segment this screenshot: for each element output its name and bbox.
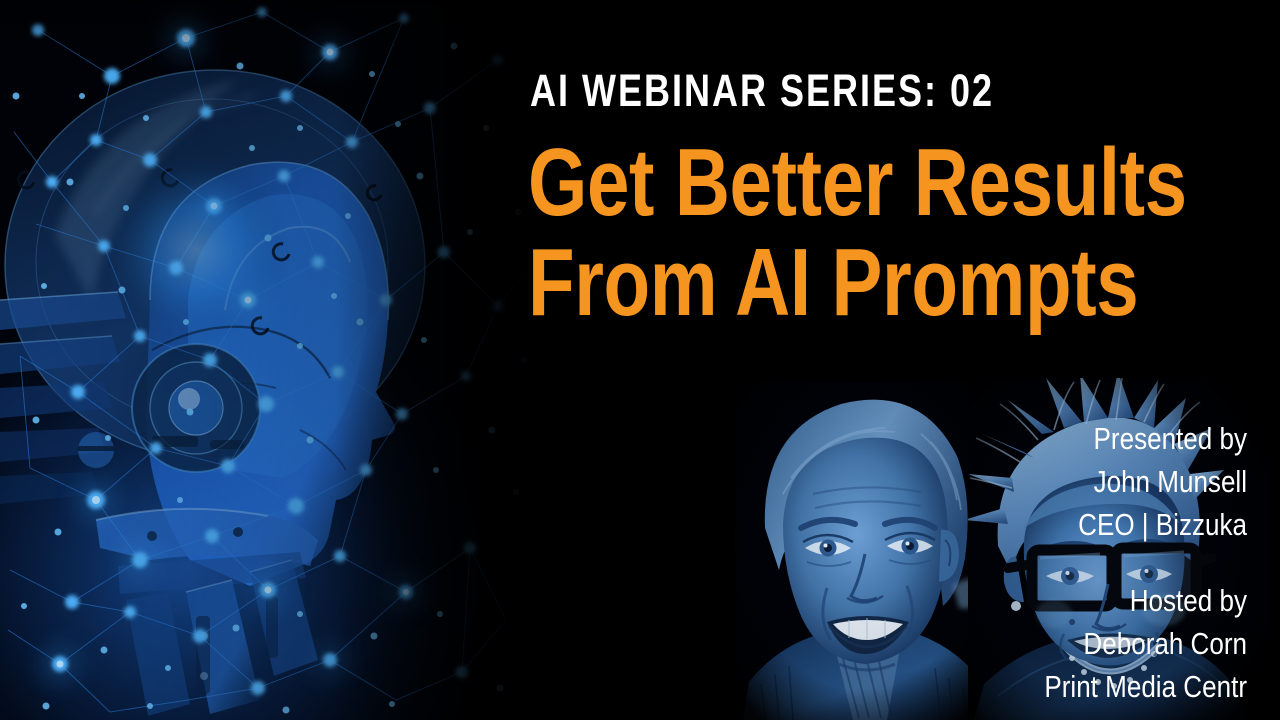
- presenter-role-label: Presented by: [636, 418, 1247, 461]
- host-organization: Print Media Centr: [636, 666, 1247, 709]
- headline-line-2: From AI Prompts: [528, 236, 1108, 330]
- presenter-name: John Munsell: [636, 461, 1247, 504]
- text-content-block: AI WEBINAR SERIES: 02 Get Better Results…: [520, 0, 1260, 720]
- headline: Get Better Results From AI Prompts: [528, 136, 1258, 330]
- ai-robot-network-artwork: [0, 0, 540, 720]
- series-eyebrow-label: AI WEBINAR SERIES: 02: [530, 68, 994, 113]
- headline-line-1: Get Better Results: [528, 136, 1108, 230]
- host-credit-group: Hosted by Deborah Corn Print Media Centr: [520, 580, 1247, 708]
- host-role-label: Hosted by: [636, 580, 1247, 623]
- host-name: Deborah Corn: [636, 623, 1247, 666]
- webinar-promo-slide: AI WEBINAR SERIES: 02 Get Better Results…: [0, 0, 1280, 720]
- presenter-title: CEO | Bizzuka: [636, 504, 1247, 547]
- credits-block: Presented by John Munsell CEO | Bizzuka …: [520, 418, 1247, 709]
- presenter-credit-group: Presented by John Munsell CEO | Bizzuka: [520, 418, 1247, 546]
